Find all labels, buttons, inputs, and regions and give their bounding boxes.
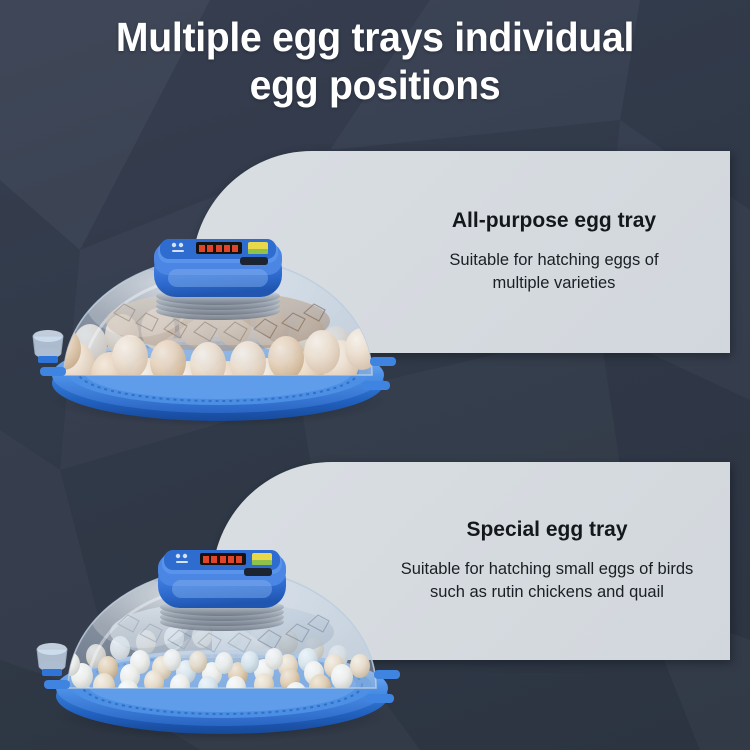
info-card-special: Special egg tray Suitable for hatching s… (212, 462, 730, 660)
card-title-special: Special egg tray (466, 518, 627, 542)
page-title: Multiple egg trays individual egg positi… (17, 14, 733, 110)
info-card-all-purpose: All-purpose egg tray Suitable for hatchi… (192, 151, 730, 353)
card-body-all-purpose: Suitable for hatching eggs of multiple v… (449, 249, 658, 296)
promo-banner: Multiple egg trays individual egg positi… (0, 0, 750, 750)
card-body-special: Suitable for hatching small eggs of bird… (401, 558, 694, 605)
card-title-all-purpose: All-purpose egg tray (452, 209, 656, 233)
